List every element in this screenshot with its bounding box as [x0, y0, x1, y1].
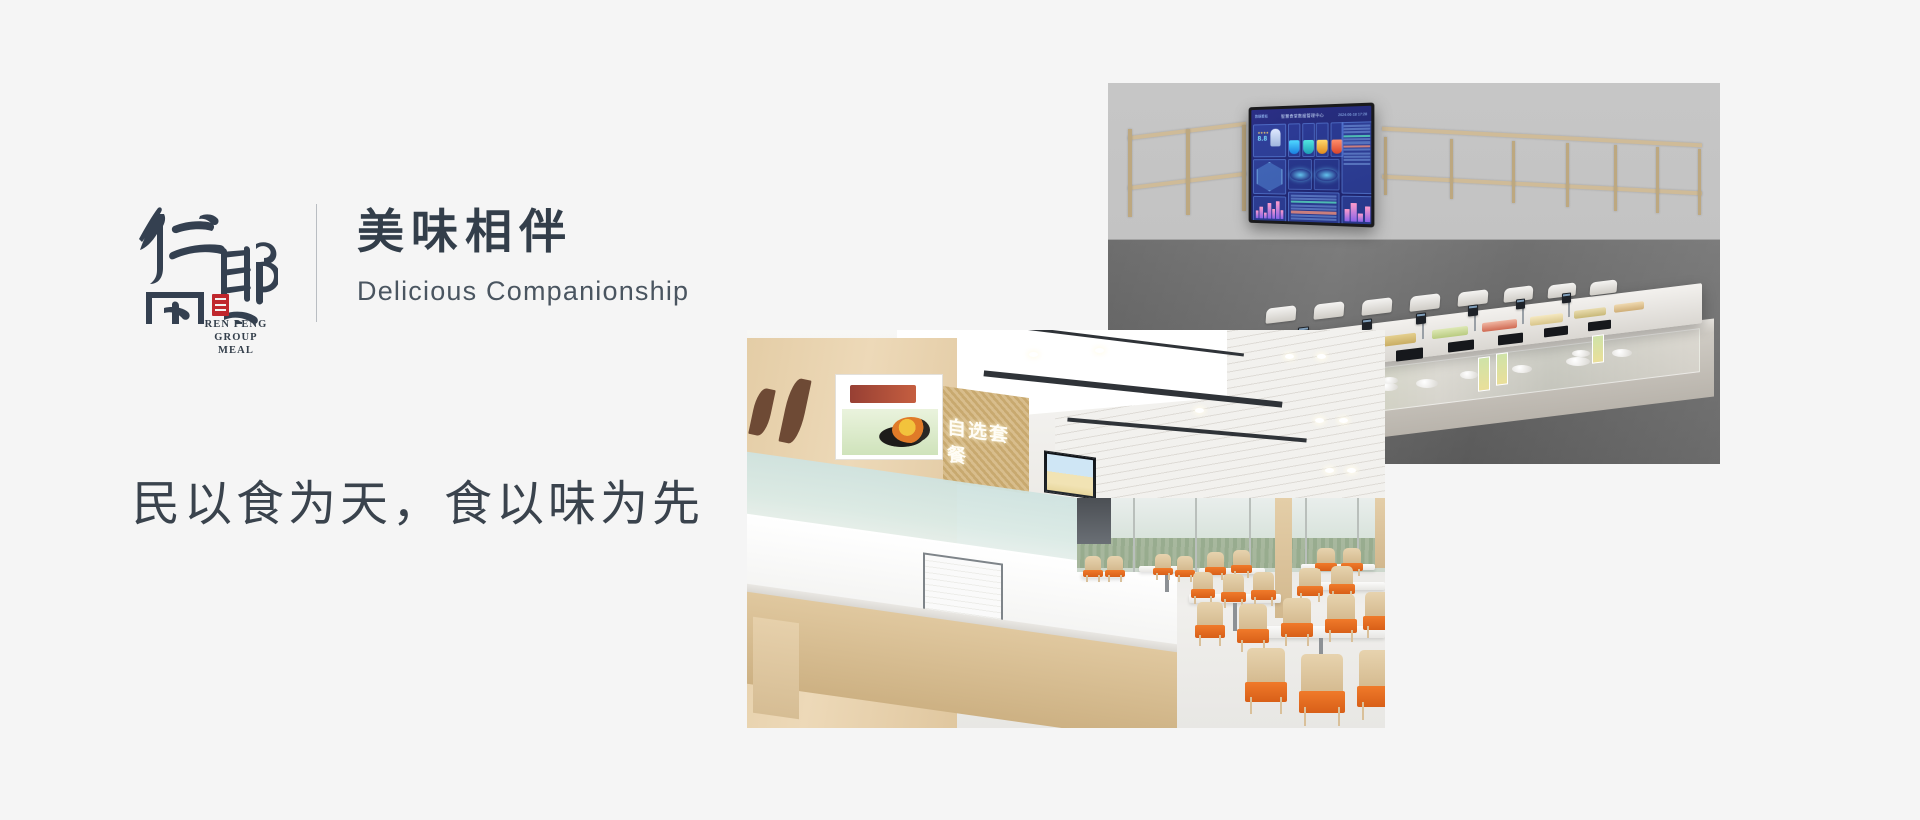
dining-chair [1197, 602, 1223, 646]
dining-hall-area [1077, 498, 1385, 728]
brand-lockup: REN PENG GROUP MEAL 美味相伴 Delicious Compa… [128, 196, 689, 346]
logo-english-name: REN PENG GROUP MEAL [190, 318, 282, 357]
window-mullion [1305, 498, 1307, 572]
brand-slogan-en: Delicious Companionship [357, 274, 689, 308]
electronic-price-tag [1562, 292, 1571, 303]
dining-chair [1365, 592, 1385, 638]
hero-banner: REN PENG GROUP MEAL 美味相伴 Delicious Compa… [0, 0, 1920, 820]
dining-chair [1359, 650, 1385, 720]
downlight [1195, 408, 1204, 413]
left-bar-chart [1254, 197, 1285, 221]
dashboard-header-left: 数据看板 [1255, 114, 1268, 119]
downlight [1095, 348, 1104, 353]
decor-panel [1478, 356, 1490, 391]
sneeze-guard [1409, 293, 1440, 312]
ranking-table [1341, 121, 1371, 194]
satisfaction-card: ★★★★ 8.8 [1253, 124, 1286, 158]
tag-stem [1568, 301, 1570, 317]
dashboard-left-column: ★★★★ 8.8 [1253, 124, 1286, 222]
downlight [1285, 354, 1294, 359]
back-cabinet [1077, 498, 1111, 544]
dining-chair [1327, 594, 1355, 642]
logo-en-line3: MEAL [190, 344, 282, 357]
sneeze-guard [1313, 301, 1344, 320]
stacked-plates [1566, 357, 1590, 366]
electronic-price-tag [1468, 304, 1478, 316]
counter-door-panel [753, 617, 799, 719]
rating-stars: ★★★★ [1258, 131, 1269, 135]
center-data-table [1288, 192, 1339, 224]
logo-en-line1: REN PENG [190, 318, 282, 331]
gauge-row [1288, 159, 1339, 191]
stacked-plates [1416, 379, 1438, 388]
downlight [1347, 468, 1356, 473]
vertical-divider [316, 204, 317, 322]
dining-chair [1085, 556, 1101, 582]
dashboard-body: ★★★★ 8.8 [1253, 121, 1369, 224]
dining-chair [1299, 568, 1321, 602]
gold-signage-text: 自选套餐 [947, 412, 1027, 477]
sign-dish-photo [842, 409, 938, 455]
dashboard-content: 数据看板 智慧食堂数据管理中心 2024-06-18 17:28 ★★★★ 8.… [1251, 106, 1371, 225]
downlight [1317, 354, 1326, 359]
right-bar-chart [1342, 197, 1371, 224]
downlight [1029, 352, 1038, 357]
right-bar-chart-card [1341, 196, 1371, 225]
dashboard-header-right: 2024-06-18 17:28 [1338, 112, 1367, 117]
kpi-card-2 [1302, 123, 1315, 157]
dish-bowl-icon [892, 417, 930, 443]
radar-hex-card [1253, 159, 1286, 194]
electronic-price-tag [1416, 312, 1426, 324]
stacked-plates [1460, 371, 1478, 379]
kpi-row [1288, 122, 1339, 157]
dining-chair [1107, 556, 1123, 582]
logo-en-line2: GROUP [190, 331, 282, 344]
dining-chair [1253, 572, 1274, 606]
kpi-card-1 [1288, 123, 1300, 157]
menu-lightbox-sign [835, 374, 943, 460]
brand-slogan-block: 美味相伴 Delicious Companionship [357, 196, 689, 308]
dashboard-title: 智慧食堂数据管理中心 [1281, 112, 1324, 119]
window-mullion [1133, 498, 1135, 572]
logo-calligraphy-icon [128, 196, 278, 324]
downlight [1339, 418, 1348, 423]
dashboard-header: 数据看板 智慧食堂数据管理中心 2024-06-18 17:28 [1253, 108, 1369, 123]
sign-brand-logo [850, 385, 916, 403]
stacked-plates [1612, 349, 1632, 357]
dining-chair [1247, 648, 1285, 714]
dining-chair [1223, 574, 1244, 608]
cafeteria-interior-image: 自选套餐 [747, 330, 1385, 728]
dining-chair [1239, 604, 1267, 652]
stacked-plates [1512, 365, 1532, 373]
dining-chair [1193, 572, 1213, 604]
window-mullion [1195, 498, 1197, 572]
kpi-card-3 [1316, 122, 1329, 156]
gauge-left [1288, 159, 1312, 190]
dashboard-display-screen[interactable]: 数据看板 智慧食堂数据管理中心 2024-06-18 17:28 ★★★★ 8.… [1249, 102, 1375, 227]
downlight [1315, 418, 1324, 423]
downlight [1325, 468, 1334, 473]
decor-panel [1496, 352, 1508, 385]
electronic-price-tag [1516, 298, 1525, 309]
red-seal-icon [212, 294, 229, 316]
structural-column [1375, 498, 1385, 568]
stacked-plates [1572, 350, 1590, 357]
sneeze-guard [1361, 297, 1392, 316]
dining-chair [1301, 654, 1343, 726]
avatar-figure-icon [1270, 129, 1280, 147]
tag-stem [1522, 307, 1524, 324]
dining-chair [1283, 598, 1311, 646]
company-logo: REN PENG GROUP MEAL [128, 196, 278, 346]
left-bar-chart-card [1253, 196, 1286, 222]
brand-slogan-cn: 美味相伴 [357, 202, 689, 262]
dashboard-right-column [1341, 121, 1371, 224]
wall-menu-screen[interactable] [1044, 450, 1096, 499]
dashboard-center-column [1288, 122, 1339, 224]
gauge-right [1314, 159, 1339, 191]
electronic-price-tag [1362, 318, 1372, 330]
sneeze-guard [1265, 305, 1296, 324]
dining-chair [1177, 556, 1193, 582]
dining-chair [1155, 554, 1171, 580]
rating-score: 8.8 [1258, 136, 1268, 143]
page-headline: 民以食为天，食以味为先 [132, 474, 704, 536]
decor-panel [1592, 334, 1604, 363]
